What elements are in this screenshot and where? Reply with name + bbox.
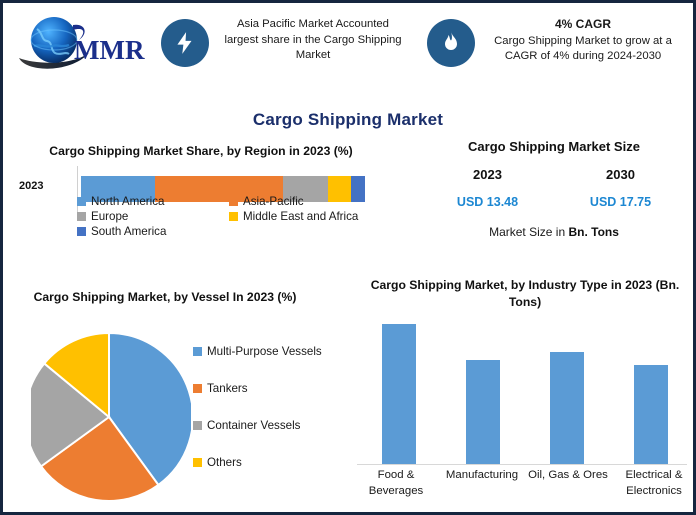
industry-bar [466,360,500,464]
legend-label-middle-east-africa: Middle East and Africa [243,210,358,223]
legend-swatch-europe [77,212,86,221]
legend-swatch-multi-purpose-vessels [193,347,202,356]
industry-tick-food-beverages: Food & Beverages [353,467,439,499]
legend-swatch-middle-east-africa [229,212,238,221]
industry-bar [634,365,668,464]
legend-label-asia-pacific: Asia-Pacific [243,195,304,208]
market-size-values: USD 13.48 USD 17.75 [421,195,687,209]
industry-type-chart-title: Cargo Shipping Market, by Industry Type … [353,277,696,311]
legend-swatch-others [193,458,202,467]
market-size-value-end: USD 17.75 [554,195,687,209]
legend-swatch-tankers [193,384,202,393]
industry-type-chart: Cargo Shipping Market, by Industry Type … [353,277,696,515]
legend-item-middle-east-africa: Middle East and Africa [229,210,387,223]
flame-icon [427,19,475,67]
legend-label-tankers: Tankers [207,382,248,395]
region-share-chart: Cargo Shipping Market Share, by Region i… [15,143,387,283]
legend-item-tankers: Tankers [193,382,322,395]
market-size-unit: Bn. Tons [568,225,618,239]
vessel-share-chart-title: Cargo Shipping Market, by Vessel In 2023… [15,289,315,306]
industry-bar [382,324,416,464]
badge-cagr-text: 4% CAGR Cargo Shipping Market to grow at… [485,17,681,65]
market-size-unit-note: Market Size in Bn. Tons [421,225,687,239]
industry-type-tick-labels: Food & Beverages Manufacturing Oil, Gas … [353,467,696,499]
legend-item-north-america: North America [77,195,229,208]
vessel-share-chart: Cargo Shipping Market, by Vessel In 2023… [11,289,351,514]
badge-asia-pacific-text: Asia Pacific Market Accounted largest sh… [219,17,407,64]
legend-label-europe: Europe [91,210,128,223]
badge-cagr-body: Cargo Shipping Market to grow at a CAGR … [494,35,672,63]
legend-label-others: Others [207,456,242,469]
legend-swatch-container-vessels [193,421,202,430]
legend-label-south-america: South America [91,225,166,238]
region-share-chart-title: Cargo Shipping Market Share, by Region i… [15,143,387,160]
region-share-legend: North America Asia-Pacific Europe Middle… [77,195,387,240]
page-title: Cargo Shipping Market [3,110,693,130]
vessel-share-plot: Multi-Purpose Vessels Tankers Container … [11,331,351,511]
market-size-unit-prefix: Market Size in [489,225,565,239]
market-size-year-end: 2030 [554,167,687,182]
legend-label-multi-purpose-vessels: Multi-Purpose Vessels [207,345,322,358]
header: MMR Asia Pacific Market Accounted larges… [3,3,693,95]
industry-tick-electrical-electronics: Electrical & Electronics [611,467,696,499]
globe-swoosh-logo: MMR [17,13,152,75]
legend-label-north-america: North America [91,195,164,208]
legend-swatch-asia-pacific [229,197,238,206]
industry-tick-manufacturing: Manufacturing [439,467,525,499]
market-size-panel: Cargo Shipping Market Size 2023 2030 USD… [421,139,687,239]
legend-item-asia-pacific: Asia-Pacific [229,195,387,208]
vessel-pie-graphic [31,331,191,503]
badge-asia-pacific-body: Asia Pacific Market Accounted largest sh… [224,18,401,61]
legend-label-container-vessels: Container Vessels [207,419,300,432]
industry-type-axis [357,464,687,465]
legend-item-multi-purpose-vessels: Multi-Purpose Vessels [193,345,322,358]
legend-swatch-north-america [77,197,86,206]
market-size-value-start: USD 13.48 [421,195,554,209]
industry-tick-oil-gas-ores: Oil, Gas & Ores [525,467,611,499]
industry-bar [550,352,584,464]
logo-text: MMR [74,35,145,65]
legend-item-container-vessels: Container Vessels [193,419,322,432]
infographic-canvas: MMR Asia Pacific Market Accounted larges… [0,0,696,515]
lightning-bolt-icon [161,19,209,67]
region-share-category-label: 2023 [19,180,43,192]
vessel-share-legend: Multi-Purpose Vessels Tankers Container … [193,345,322,493]
mmr-logo: MMR [17,13,152,75]
legend-swatch-south-america [77,227,86,236]
industry-type-plot [357,309,693,464]
legend-item-others: Others [193,456,322,469]
market-size-title: Cargo Shipping Market Size [421,139,687,154]
badge-cagr-highlight: 4% CAGR [485,17,681,33]
market-size-year-start: 2023 [421,167,554,182]
legend-item-europe: Europe [77,210,229,223]
market-size-years: 2023 2030 [421,167,687,182]
legend-item-south-america: South America [77,225,229,238]
